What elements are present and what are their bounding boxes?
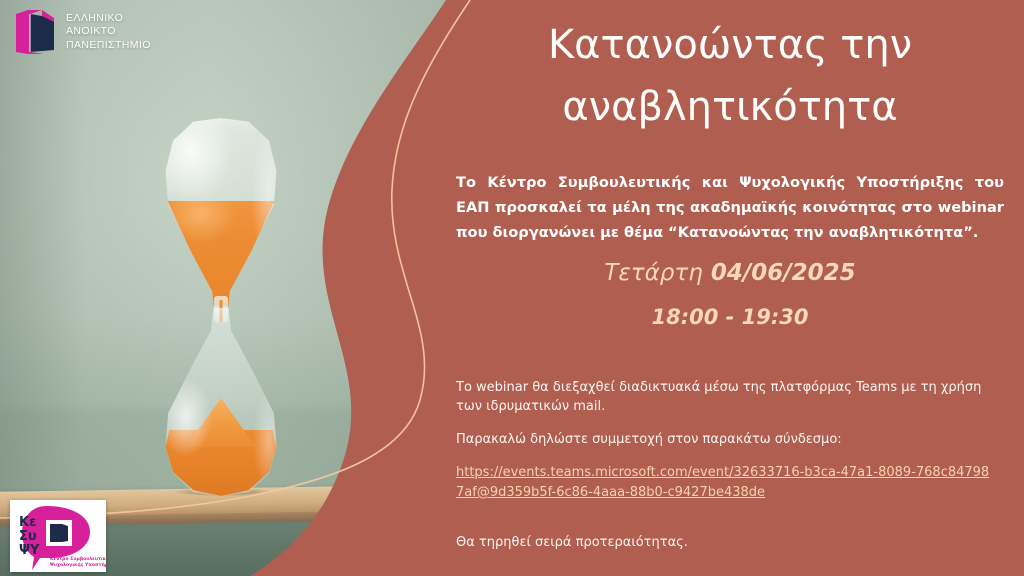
hou-line-1: ΕΛΛΗΝΙΚΟ — [66, 12, 151, 26]
hou-logo: ΕΛΛΗΝΙΚΟ ΑΝΟΙΚΤΟ ΠΑΝΕΠΙΣΤΗΜΙΟ — [14, 8, 151, 56]
speech-bubble-book-icon: Κε Συ ΨΥ Κέντρο Συμβουλευτικής & Ψυχολογ… — [10, 500, 106, 572]
bottom-bulb-glass-highlight — [158, 308, 284, 496]
page-title: Κατανοώντας την αναβλητικότητα — [458, 14, 1002, 138]
intro-paragraph: Το Κέντρο Συμβουλευτικής και Ψυχολογικής… — [456, 170, 1004, 245]
webinar-poster: ΕΛΛΗΝΙΚΟ ΑΝΟΙΚΤΟ ΠΑΝΕΠΙΣΤΗΜΙΟ Κε Συ ΨΥ Κ… — [0, 0, 1024, 576]
kesypsy-acronym-1: Κε — [19, 515, 36, 530]
kesypsy-caption-1: Κέντρο Συμβουλευτικής & — [50, 555, 106, 562]
hou-line-3: ΠΑΝΕΠΙΣΤΗΜΙΟ — [66, 39, 151, 53]
hourglass-bottom-bulb — [158, 308, 284, 496]
hourglass-top-bulb — [158, 118, 284, 306]
kesypsy-acronym-3: ΨΥ — [19, 543, 40, 558]
event-date: 04/06/2025 — [711, 260, 856, 286]
kesypsy-caption-2: Ψυχολογικής Υποστήριξης — [50, 561, 106, 568]
event-datetime: Τετάρτη 04/06/2025 18:00 - 19:30 — [456, 256, 1004, 334]
priority-note: Θα τηρηθεί σειρά προτεραιότητας. — [456, 533, 996, 552]
poster-content: Κατανοώντας την αναβλητικότητα Το Κέντρο… — [452, 0, 1008, 576]
registration-link[interactable]: https://events.teams.microsoft.com/event… — [456, 463, 996, 503]
top-bulb-glass-highlight — [158, 118, 284, 306]
register-note: Παρακαλώ δηλώστε συμμετοχή στον παρακάτω… — [456, 430, 996, 449]
hourglass-photo — [0, 0, 470, 576]
hou-line-2: ΑΝΟΙΚΤΟ — [66, 25, 151, 39]
open-book-icon — [14, 8, 58, 56]
event-time: 18:00 - 19:30 — [456, 300, 1004, 334]
kesypsy-logo: Κε Συ ΨΥ Κέντρο Συμβουλευτικής & Ψυχολογ… — [10, 500, 106, 572]
details-block: Το webinar θα διεξαχθεί διαδικτυακά μέσω… — [456, 378, 996, 503]
event-date-line: Τετάρτη 04/06/2025 — [456, 256, 1004, 290]
kesypsy-acronym-2: Συ — [19, 529, 37, 544]
hourglass-icon — [158, 118, 284, 496]
event-weekday: Τετάρτη — [604, 260, 703, 286]
platform-note: Το webinar θα διεξαχθεί διαδικτυακά μέσω… — [456, 378, 996, 416]
hou-logo-text: ΕΛΛΗΝΙΚΟ ΑΝΟΙΚΤΟ ΠΑΝΕΠΙΣΤΗΜΙΟ — [66, 12, 151, 53]
